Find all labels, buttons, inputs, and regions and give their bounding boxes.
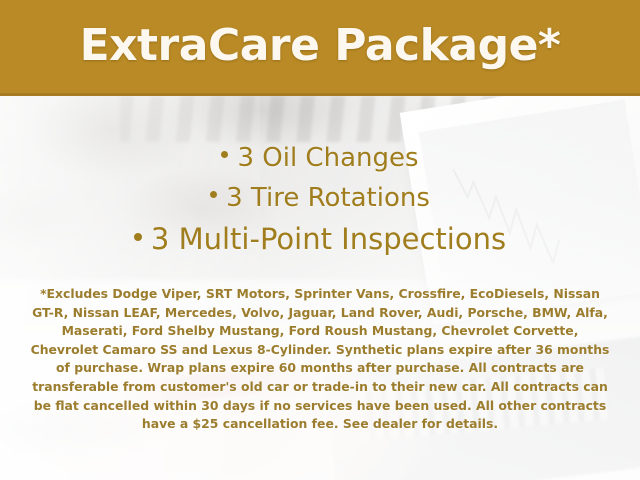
benefit-item-tire-rotations: 3 Tire Rotations [0,178,640,218]
page-title: ExtraCare Package* [80,24,561,72]
bullet-dot-icon [221,151,228,158]
benefit-item-multi-point-inspections: 3 Multi-Point Inspections [0,218,640,260]
benefit-label: 3 Multi-Point Inspections [151,222,506,256]
disclaimer-text: *Excludes Dodge Viper, SRT Motors, Sprin… [30,285,610,434]
extracare-package-promo-card: ExtraCare Package* 3 Oil Changes 3 Tire … [0,0,640,480]
benefits-list: 3 Oil Changes 3 Tire Rotations 3 Multi-P… [0,138,640,260]
benefit-item-oil-changes: 3 Oil Changes [0,138,640,178]
benefit-label: 3 Oil Changes [237,143,418,173]
benefit-label: 3 Tire Rotations [226,183,430,213]
bullet-dot-icon [134,233,142,241]
bullet-dot-icon [210,191,217,198]
disclaimer-block: *Excludes Dodge Viper, SRT Motors, Sprin… [30,285,610,434]
header-band: ExtraCare Package* [0,0,640,96]
